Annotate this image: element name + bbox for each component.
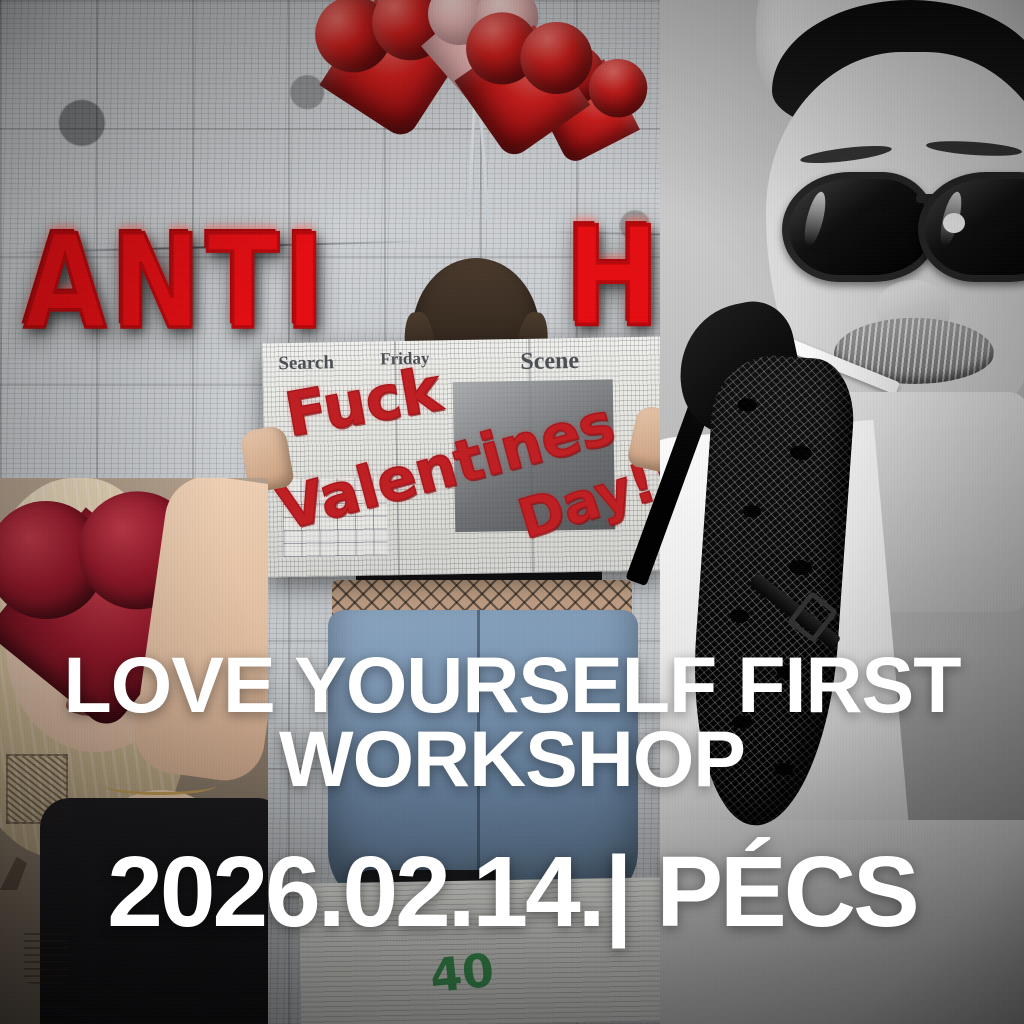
date-city-block: 2026.02.14.| PÉCS: [0, 842, 1024, 942]
headline-line-2: WORKSHOP: [0, 722, 1024, 796]
newspaper-header-search: Search: [278, 352, 334, 375]
floor-newspaper-number: 40: [427, 943, 496, 1003]
headline-line-1: LOVE YOURSELF FIRST: [0, 648, 1024, 722]
heart-balloon-red: [453, 2, 599, 141]
protest-newspaper-sign: Search Friday Scene Fuck Valentines Day!…: [262, 337, 664, 578]
cat-eye-sunglasses: [782, 166, 1024, 278]
event-date: 2026.02.14.: [107, 836, 602, 948]
poster-canvas: ANTI HER Search Friday Scene Fuck Valent…: [0, 0, 1024, 1024]
newspaper-header-scene: Scene: [520, 348, 579, 376]
sunglass-lens: [918, 172, 1024, 282]
heart-balloons-cluster: [318, 0, 648, 226]
headline-block: LOVE YOURSELF FIRST WORKSHOP: [0, 648, 1024, 797]
event-city: PÉCS: [656, 836, 916, 948]
sunglass-lens: [782, 172, 934, 282]
date-city-separator: |: [603, 836, 632, 948]
